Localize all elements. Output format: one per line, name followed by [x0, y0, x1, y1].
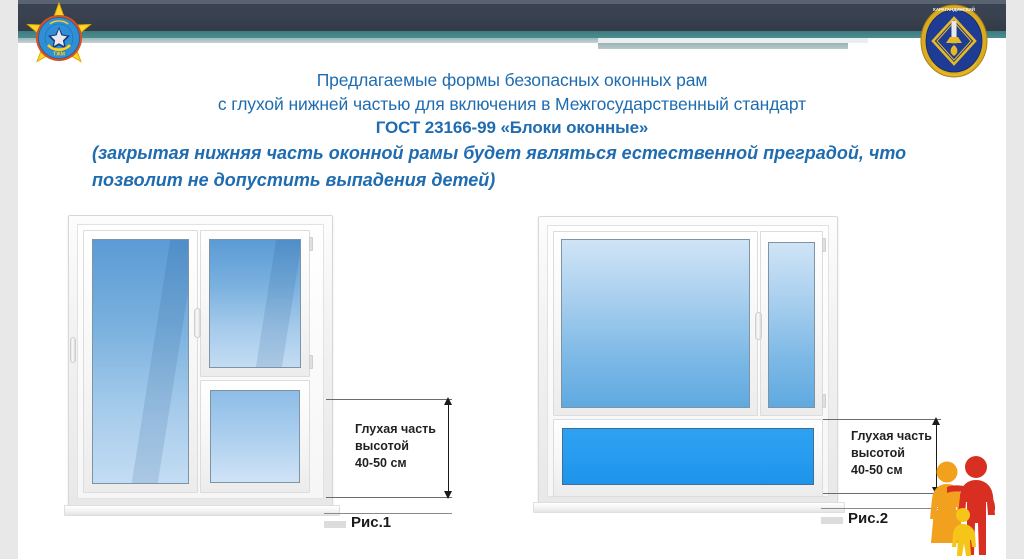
header-stripe-teal-primary	[18, 31, 1006, 38]
title-subtitle-block: (закрытая нижняя часть оконной рамы буде…	[18, 140, 1006, 194]
svg-text:ТЖМ: ТЖМ	[53, 52, 65, 58]
header-stripe-white-left	[18, 43, 598, 49]
kazakhstan-emergency-ministry-star-emblem-icon: ТЖМ	[22, 2, 96, 74]
fig2-window-handle[interactable]	[755, 312, 762, 340]
window-diagram-figure-1	[64, 215, 344, 510]
slide-page: ТЖМ КАРАГАНДИНСКИЙ	[18, 0, 1006, 559]
title-line-2: с глухой нижней частью для включения в М…	[18, 92, 1006, 116]
fig1-arrow-head-up	[444, 397, 452, 405]
title-line-3-standard: ГОСТ 23166-99 «Блоки оконные»	[18, 116, 1006, 140]
fig2-lower-fixed-band-pane	[562, 428, 814, 485]
fig1-left-large-pane	[92, 239, 189, 484]
fig2-lower-fixed-sash	[553, 419, 823, 497]
slide-root: ТЖМ КАРАГАНДИНСКИЙ	[0, 0, 1024, 559]
fig1-left-sash	[83, 230, 198, 493]
fig1-window-sill	[64, 505, 340, 516]
fig2-window-sill	[533, 502, 845, 513]
title-line-4: (закрытая нижняя часть оконной рамы буде…	[92, 140, 1006, 167]
title-line-1: Предлагаемые формы безопасных оконных ра…	[18, 68, 1006, 92]
fig1-right-upper-sash	[200, 230, 310, 377]
fig2-upper-large-sash	[553, 231, 758, 416]
fig1-left-pane-glint	[132, 240, 189, 483]
fig1-hinge-top	[309, 237, 313, 251]
fig2-hinge-bottom	[822, 394, 826, 408]
fig2-upper-large-pane	[561, 239, 750, 408]
fig1-right-lower-fixed-pane	[210, 390, 300, 483]
fig1-right-upper-pane	[209, 239, 301, 368]
fig1-right-upper-glint	[256, 240, 301, 367]
fig1-left-side-hardware[interactable]	[70, 337, 76, 363]
fig1-right-lower-fixed-sash	[200, 380, 310, 493]
fig2-lead-line-top	[823, 419, 941, 420]
fig1-window-handle[interactable]	[194, 308, 201, 338]
fig1-callout-text: Глухая часть высотой 40-50 см	[355, 421, 455, 472]
fig1-lead-line-bottom	[326, 497, 452, 498]
fig2-label: Рис.2	[848, 510, 888, 527]
header-band	[18, 0, 1006, 31]
slide-title-block: Предлагаемые формы безопасных оконных ра…	[18, 68, 1006, 194]
family-silhouette-icon	[923, 455, 1003, 559]
fig1-hinge-bottom	[309, 355, 313, 369]
fig2-arrow-head-up	[932, 417, 940, 425]
header-band-highlight	[18, 0, 1006, 4]
fig1-label-tab	[324, 521, 346, 528]
fig2-upper-narrow-sash	[760, 231, 823, 416]
title-line-5: позволит не допустить выпадения детей)	[92, 167, 1006, 194]
fig1-lead-line-top	[326, 399, 452, 400]
fig2-hinge-top	[822, 238, 826, 252]
fig1-label: Рис.1	[351, 514, 391, 531]
fig2-label-tab	[821, 517, 843, 524]
fig1-arrow-head-down	[444, 491, 452, 499]
karaganda-institute-round-emblem-icon: КАРАГАНДИНСКИЙ	[918, 2, 990, 80]
svg-text:КАРАГАНДИНСКИЙ: КАРАГАНДИНСКИЙ	[933, 7, 975, 12]
window-diagram-figure-2	[533, 216, 843, 511]
fig2-upper-narrow-pane	[768, 242, 815, 408]
